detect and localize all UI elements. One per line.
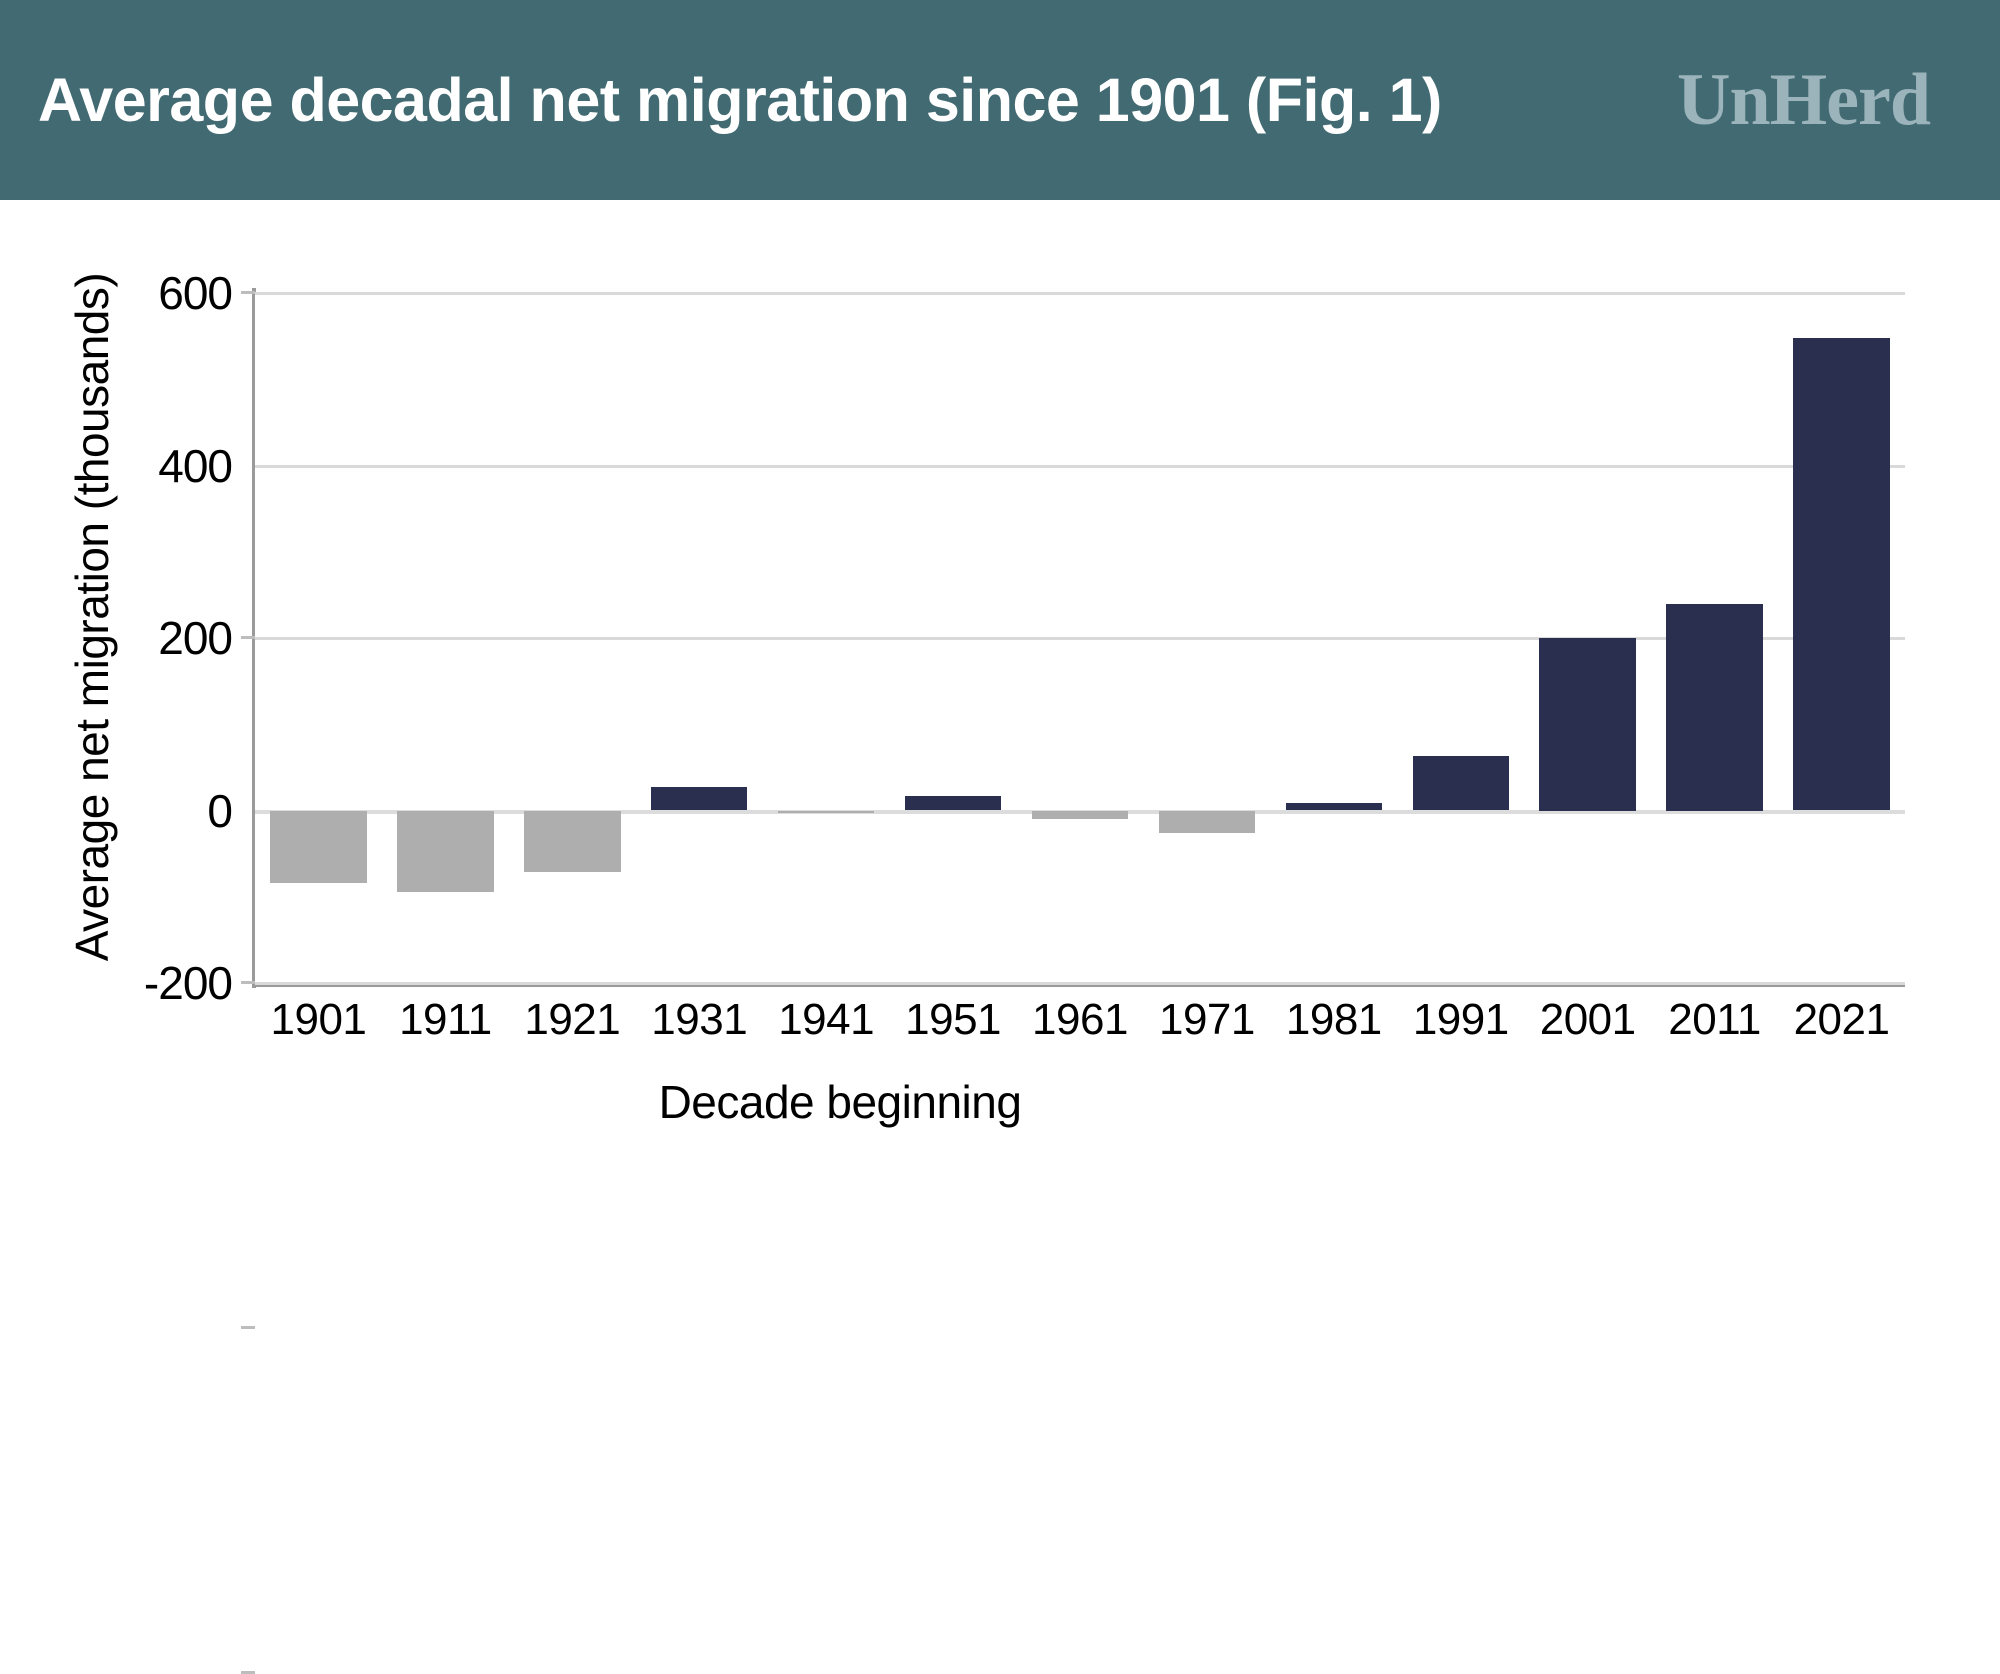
bar-1901 xyxy=(270,811,366,883)
bar-slot-1981 xyxy=(1270,293,1397,983)
bar-slot-1941 xyxy=(763,293,890,983)
unherd-logo: UnHerd xyxy=(1677,58,1940,143)
y-axis-title: Average net migration (thousands) xyxy=(65,237,119,997)
bar-1971 xyxy=(1159,811,1255,833)
bar-2001 xyxy=(1539,638,1635,811)
bar-slot-1921 xyxy=(509,293,636,983)
x-tick-label-2011: 2011 xyxy=(1651,995,1778,1045)
y-tick-label-0: 0 xyxy=(207,784,232,838)
bar-slot-1951 xyxy=(890,293,1017,983)
x-tick-label-1921: 1921 xyxy=(509,995,636,1045)
bar-1931 xyxy=(651,787,747,810)
x-tick-label-1971: 1971 xyxy=(1143,995,1270,1045)
chart-canvas: 6004002000-200 1901191119211931194119511… xyxy=(0,200,2000,1215)
y-tick-mark-200 xyxy=(241,981,255,984)
x-tick-label-1901: 1901 xyxy=(255,995,382,1045)
bar-1951 xyxy=(905,796,1001,811)
x-tick-label-1941: 1941 xyxy=(763,995,890,1045)
bar-slot-2011 xyxy=(1651,293,1778,983)
bar-1961 xyxy=(1032,811,1128,820)
y-tick-mark-400 xyxy=(241,636,255,639)
y-tick-label--200: -200 xyxy=(144,956,232,1010)
bar-slot-2001 xyxy=(1524,293,1651,983)
x-tick-label-1911: 1911 xyxy=(382,995,509,1045)
y-tick-mark-600 xyxy=(241,291,255,294)
x-axis-title-text: Decade beginning xyxy=(659,1076,1022,1128)
bar-1911 xyxy=(397,811,493,893)
x-tick-label-1991: 1991 xyxy=(1397,995,1524,1045)
bar-2011 xyxy=(1666,604,1762,811)
y-tick-label-400: 400 xyxy=(158,439,232,493)
bar-slot-1971 xyxy=(1143,293,1270,983)
y-tick-label-600: 600 xyxy=(158,266,232,320)
bar-slot-1911 xyxy=(382,293,509,983)
bar-slot-1931 xyxy=(636,293,763,983)
y-tick-mark-0 xyxy=(241,1326,255,1329)
bar-slot-2021 xyxy=(1778,293,1905,983)
x-tick-label-2021: 2021 xyxy=(1778,995,1905,1045)
bar-slot-1961 xyxy=(1017,293,1144,983)
x-tick-label-1961: 1961 xyxy=(1017,995,1144,1045)
bars-group xyxy=(255,293,1905,983)
chart-header-banner: Average decadal net migration since 1901… xyxy=(0,0,2000,200)
bar-1981 xyxy=(1286,803,1382,811)
x-tick-label-2001: 2001 xyxy=(1524,995,1651,1045)
plot-region xyxy=(255,293,1905,983)
x-tick-label-1931: 1931 xyxy=(636,995,763,1045)
x-axis-title: Decade beginning xyxy=(0,1075,2000,1129)
y-tick-label-200: 200 xyxy=(158,611,232,665)
bar-2021 xyxy=(1793,338,1889,811)
bar-1921 xyxy=(524,811,620,872)
bar-1941 xyxy=(778,811,874,813)
bar-1991 xyxy=(1413,756,1509,810)
bar-slot-1991 xyxy=(1397,293,1524,983)
page-title: Average decadal net migration since 1901… xyxy=(38,68,1442,132)
x-tick-label-1981: 1981 xyxy=(1270,995,1397,1045)
bar-slot-1901 xyxy=(255,293,382,983)
x-tick-label-1951: 1951 xyxy=(890,995,1017,1045)
